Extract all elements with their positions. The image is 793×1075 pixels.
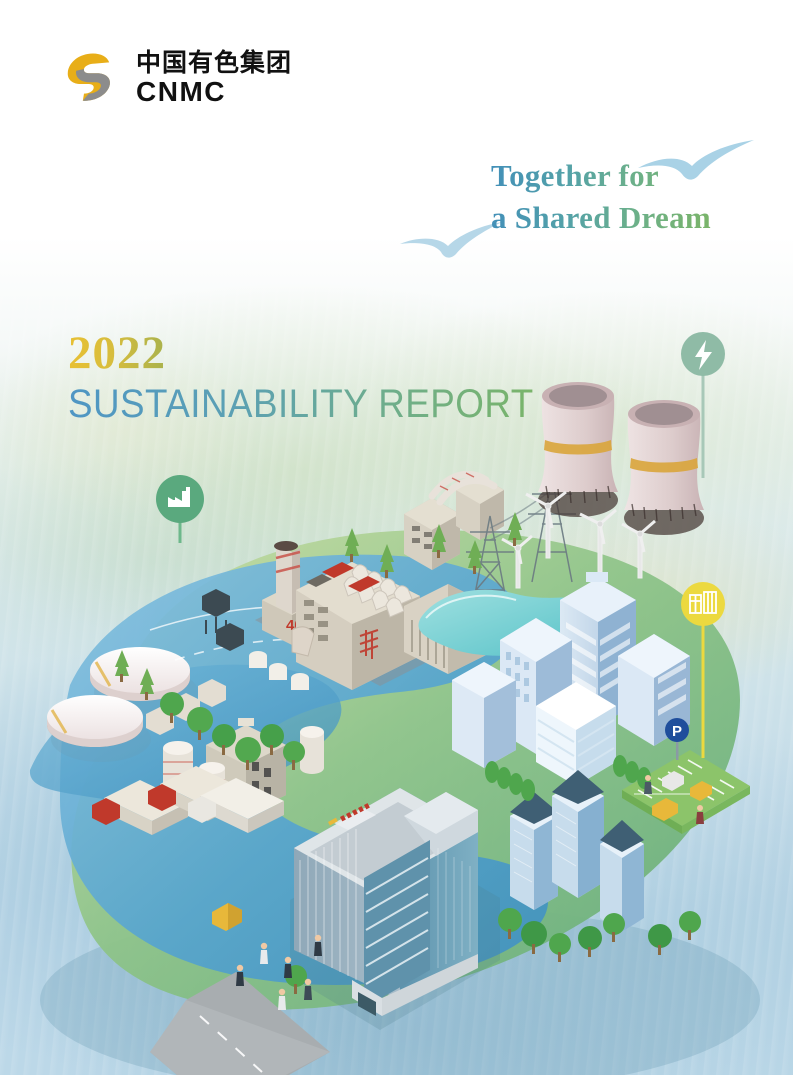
res-tower-b <box>552 770 604 898</box>
pedestrian <box>278 989 286 1010</box>
pedestrian <box>260 943 268 964</box>
res-tower-a <box>510 792 558 910</box>
pedestrian <box>314 935 322 956</box>
cover-tagline: Together for a Shared Dream <box>491 155 711 239</box>
brand-logo: 中国有色集团 CNMC <box>60 48 292 108</box>
pedestrian <box>304 979 312 1000</box>
tower-far-left <box>452 662 516 768</box>
pedestrian <box>284 957 292 978</box>
pin-factory[interactable] <box>150 473 210 543</box>
logo-chinese-name: 中国有色集团 <box>136 50 292 75</box>
report-cover-page: 中国有色集团 CNMC Together for a Shared Dream … <box>0 0 793 1075</box>
bird-lower-left-icon <box>398 220 506 264</box>
pedestrian <box>696 805 704 824</box>
pedestrian <box>236 965 244 986</box>
pin-urban[interactable] <box>675 578 731 758</box>
cnmc-logo-icon <box>60 48 120 108</box>
res-tower-c <box>600 820 644 932</box>
logo-english-name: CNMC <box>136 78 292 106</box>
pin-energy[interactable] <box>675 328 731 478</box>
pedestrian <box>644 775 652 794</box>
